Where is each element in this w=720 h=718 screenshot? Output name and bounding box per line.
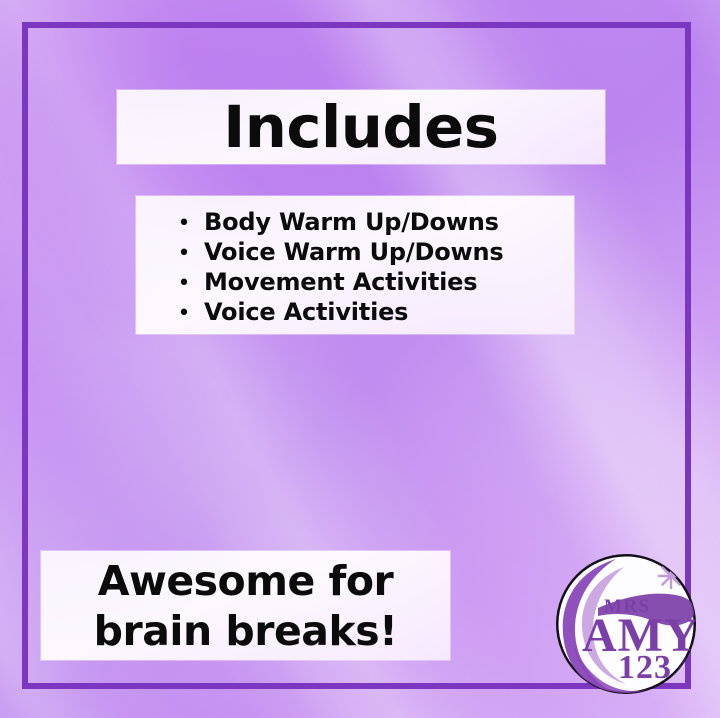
brand-logo-svg: MRS AMY 123 [552,550,700,698]
poster-canvas: Includes • Body Warm Up/Downs • Voice Wa… [0,0,720,718]
list-item-label: Movement Activities [204,270,477,294]
list-item-label: Voice Activities [204,300,408,324]
list-item-label: Body Warm Up/Downs [204,210,499,234]
tagline-panel: Awesome for brain breaks! [41,551,450,660]
brand-logo: MRS AMY 123 [552,550,700,698]
bullet-marker-icon: • [168,303,200,325]
sparkle-icon [659,564,683,588]
tagline-line-2: brain breaks! [94,606,398,656]
bullet-marker-icon: • [168,273,200,295]
page-title: Includes [223,98,498,156]
list-item: • Voice Warm Up/Downs [136,240,574,270]
includes-list: • Body Warm Up/Downs • Voice Warm Up/Dow… [136,196,574,330]
title-panel: Includes [117,90,605,164]
list-item: • Body Warm Up/Downs [136,210,574,240]
list-item-label: Voice Warm Up/Downs [204,240,503,264]
tagline-line-1: Awesome for [98,556,394,606]
bullet-marker-icon: • [168,213,200,235]
logo-bottom-text: 123 [618,649,672,686]
bullet-marker-icon: • [168,243,200,265]
list-item: • Voice Activities [136,300,574,330]
includes-list-panel: • Body Warm Up/Downs • Voice Warm Up/Dow… [136,196,574,334]
list-item: • Movement Activities [136,270,574,300]
